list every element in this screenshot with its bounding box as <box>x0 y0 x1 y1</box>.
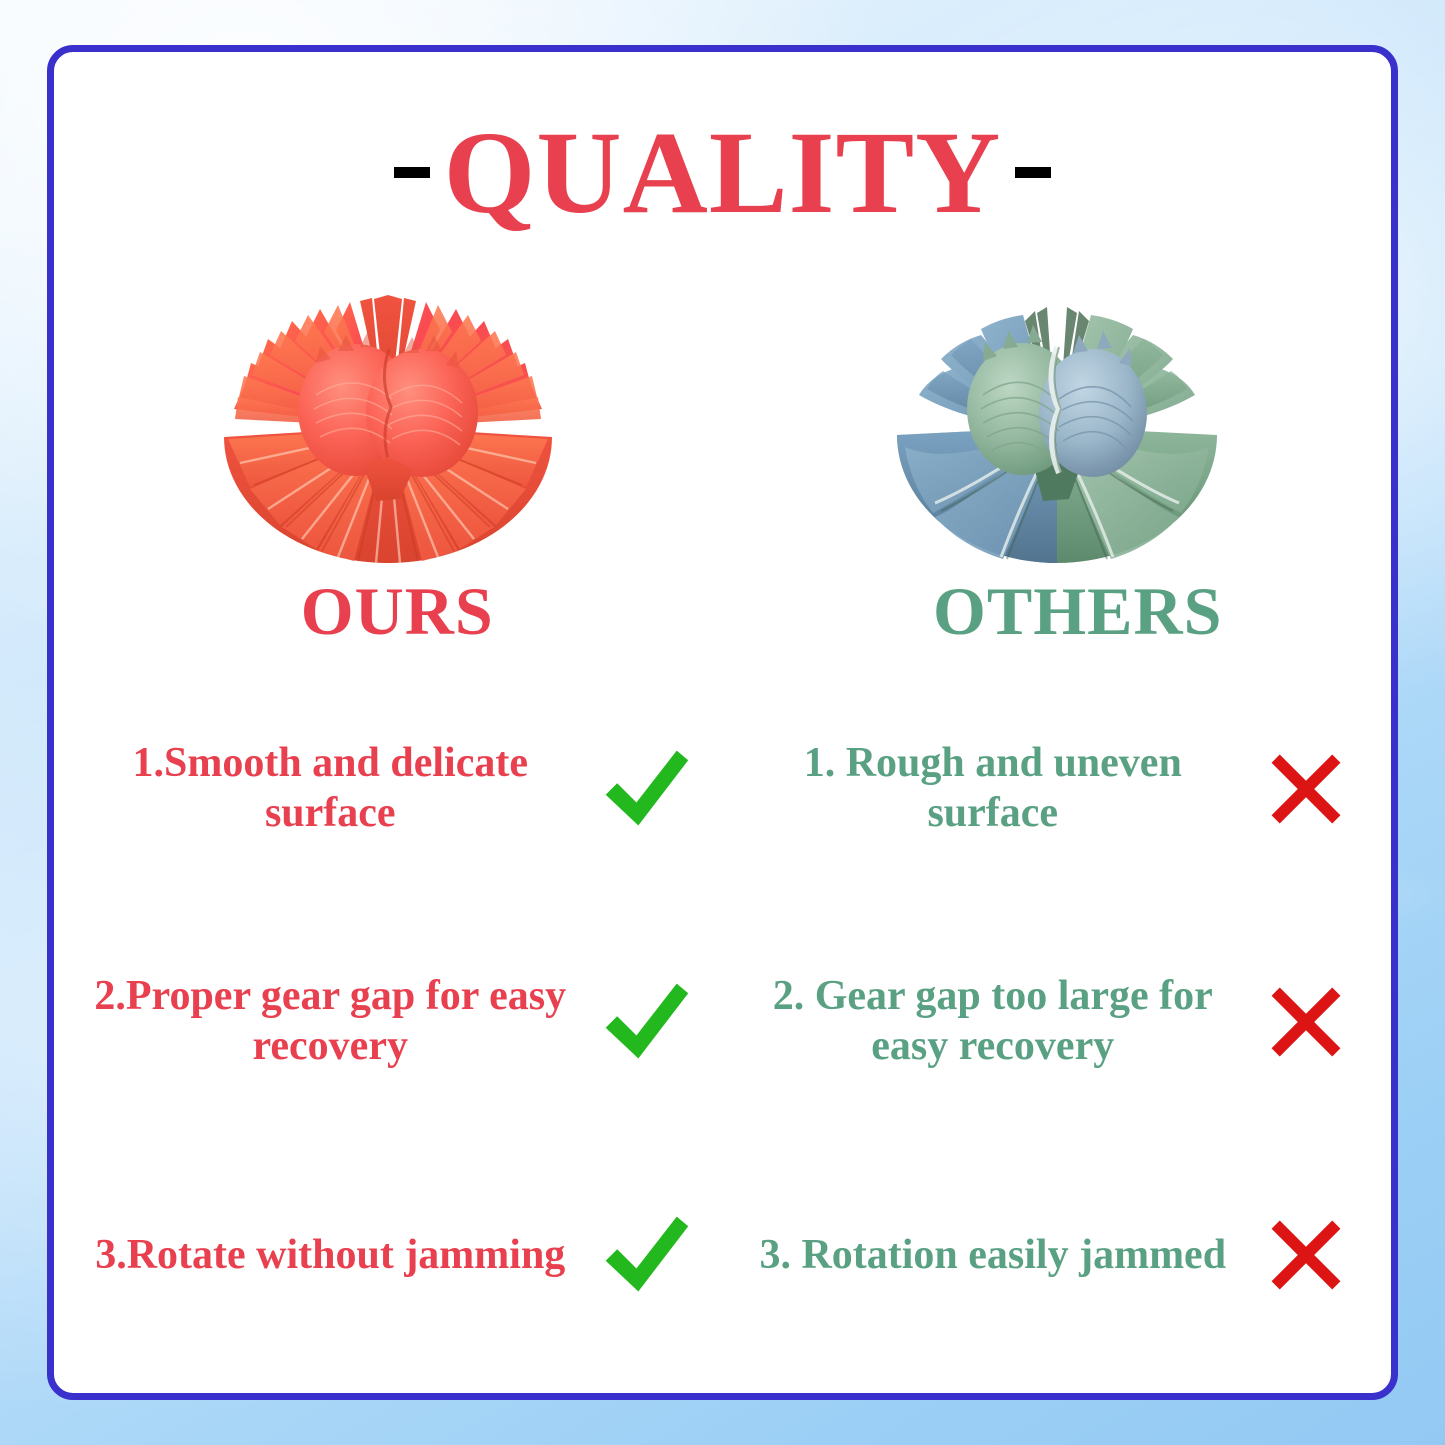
feature-text-others: 2. Gear gap too large for easy recovery <box>723 972 1248 1071</box>
column-header-others: OTHERS <box>723 577 1392 645</box>
check-icon <box>587 974 705 1070</box>
infographic-page: QUALITY <box>0 0 1445 1445</box>
column-header-ours-label: OURS <box>301 573 494 649</box>
column-header-ours: OURS <box>54 577 723 645</box>
comparison-cell-others: 1. Rough and uneven surface <box>723 672 1392 905</box>
comparison-cell-ours: 1.Smooth and delicate surface <box>54 672 723 905</box>
comparison-row: 2.Proper gear gap for easy recovery 2. G… <box>54 905 1391 1138</box>
cross-icon <box>1247 1214 1365 1296</box>
feature-text-ours: 2.Proper gear gap for easy recovery <box>54 972 587 1071</box>
page-title: QUALITY <box>54 114 1391 232</box>
cross-icon <box>1247 748 1365 830</box>
title-dash-left-icon <box>394 167 430 178</box>
comparison-cell-others: 2. Gear gap too large for easy recovery <box>723 905 1392 1138</box>
ours-gear-toy-icon <box>188 277 588 577</box>
feature-text-ours: 1.Smooth and delicate surface <box>54 739 587 838</box>
comparison-cell-ours: 3.Rotate without jamming <box>54 1139 723 1372</box>
product-image-ours <box>54 257 723 577</box>
comparison-cell-ours: 2.Proper gear gap for easy recovery <box>54 905 723 1138</box>
comparison-row: 1.Smooth and delicate surface 1. Rough a… <box>54 672 1391 905</box>
column-header-others-label: OTHERS <box>933 573 1222 649</box>
check-icon <box>587 741 705 837</box>
column-headers-row: OURS OTHERS <box>54 577 1391 645</box>
product-images-row <box>54 257 1391 577</box>
comparison-cell-others: 3. Rotation easily jammed <box>723 1139 1392 1372</box>
page-title-text: QUALITY <box>444 114 1002 232</box>
comparison-rows: 1.Smooth and delicate surface 1. Rough a… <box>54 672 1391 1372</box>
feature-text-others: 3. Rotation easily jammed <box>723 1231 1248 1281</box>
cross-icon <box>1247 981 1365 1063</box>
feature-text-others: 1. Rough and uneven surface <box>723 739 1248 838</box>
comparison-card: QUALITY <box>47 45 1398 1400</box>
feature-text-ours: 3.Rotate without jamming <box>54 1231 587 1281</box>
check-icon <box>587 1207 705 1303</box>
title-dash-right-icon <box>1015 167 1051 178</box>
others-gear-toy-icon <box>857 277 1257 577</box>
product-image-others <box>723 257 1392 577</box>
comparison-row: 3.Rotate without jamming 3. Rotation eas… <box>54 1139 1391 1372</box>
